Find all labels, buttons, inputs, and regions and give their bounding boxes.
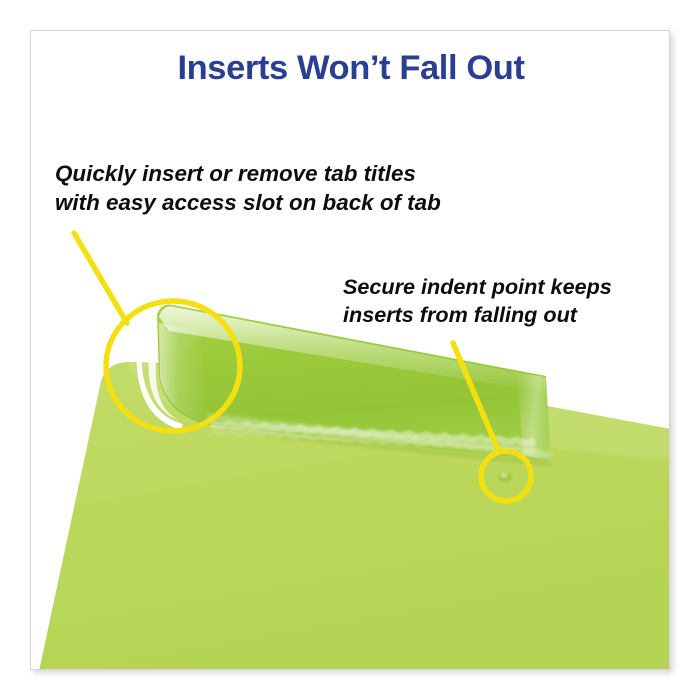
product-photo-image [31, 31, 670, 670]
product-photo-panel: Inserts Won’t Fall Out [30, 30, 670, 670]
annotation-left-line1: Quickly insert or remove tab titles [55, 159, 441, 188]
annotation-left: Quickly insert or remove tab titles with… [55, 159, 441, 217]
annotation-right-line1: Secure indent point keeps [343, 273, 612, 301]
screenshot-root: Inserts Won’t Fall Out [0, 0, 700, 700]
secure-indent-point [498, 472, 512, 482]
annotation-left-line2: with easy access slot on back of tab [55, 188, 441, 217]
annotation-right: Secure indent point keeps inserts from f… [343, 273, 612, 329]
annotation-right-line2: inserts from falling out [343, 301, 612, 329]
